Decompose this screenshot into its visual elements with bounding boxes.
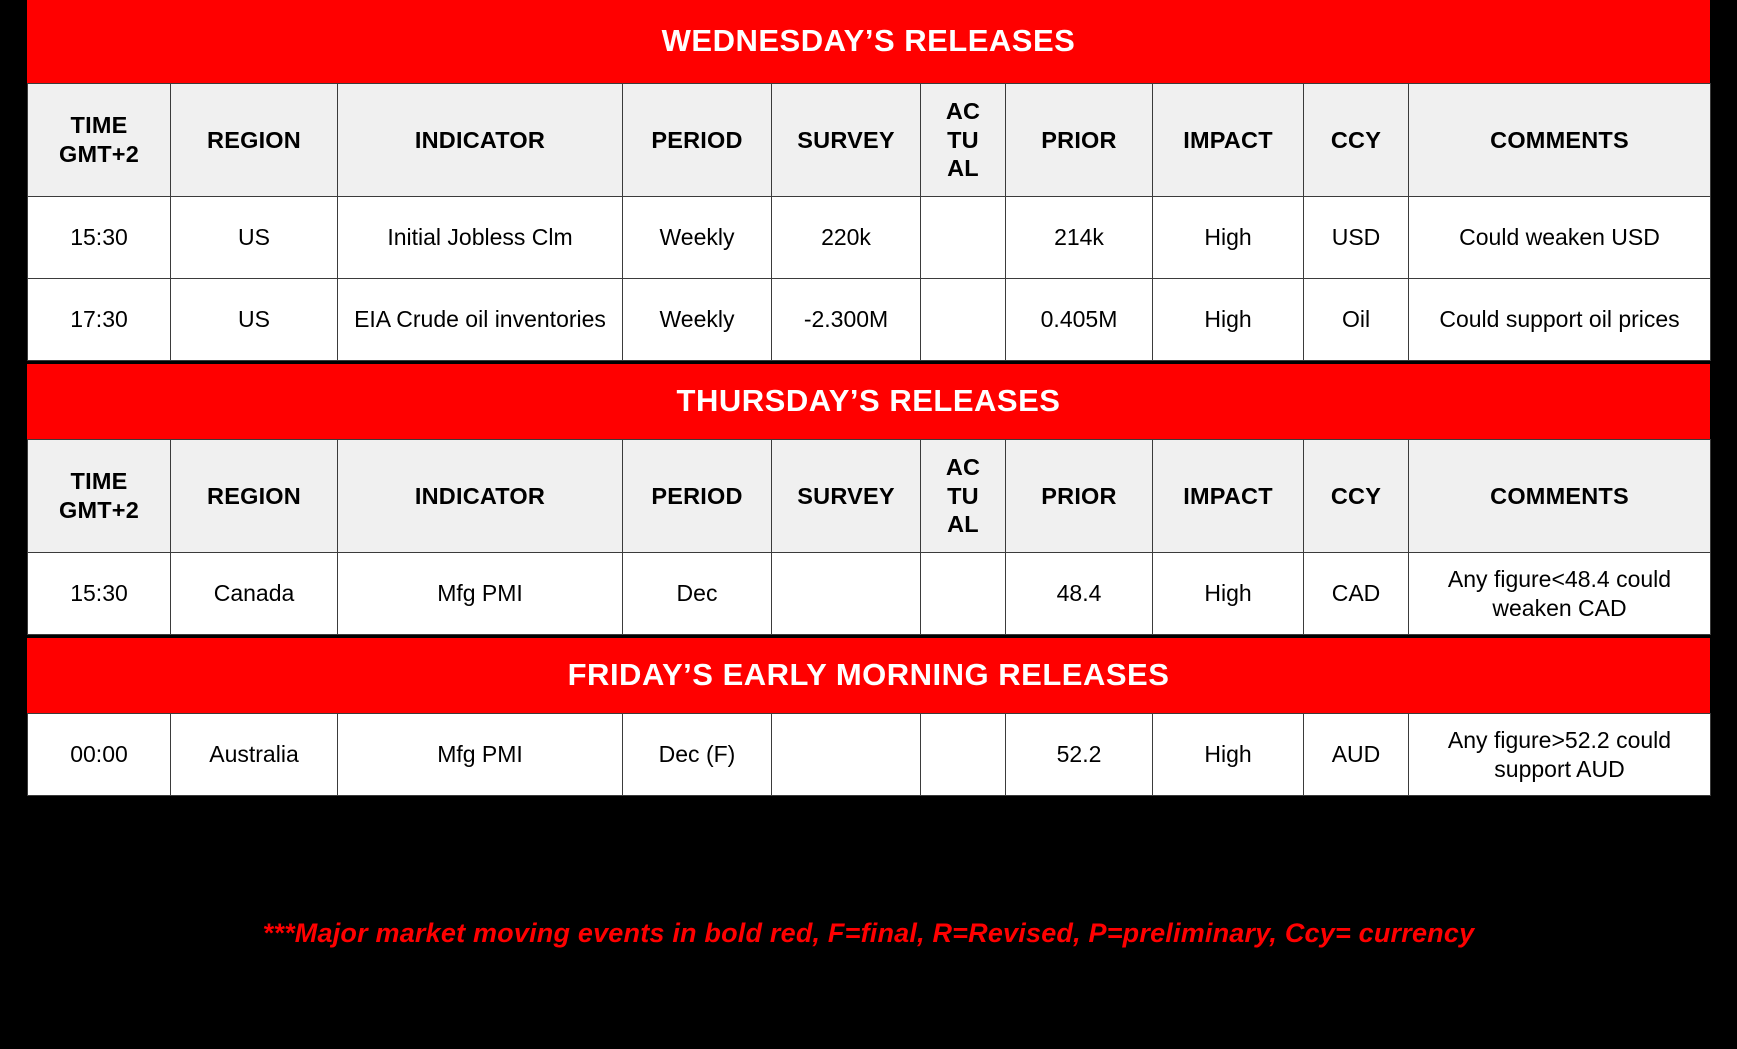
- releases-board: WEDNESDAY’S RELEASES TIME GMT+2 REGION I…: [27, 0, 1710, 796]
- column-header-ccy: CCY: [1304, 440, 1409, 553]
- cell-region: Canada: [171, 553, 338, 635]
- cell-period: Weekly: [623, 197, 772, 279]
- cell-survey: [772, 553, 921, 635]
- cell-indicator: Mfg PMI: [338, 553, 623, 635]
- cell-ccy: USD: [1304, 197, 1409, 279]
- cell-actual: [921, 197, 1006, 279]
- column-header-actual: AC TU AL: [921, 440, 1006, 553]
- column-header-actual: AC TU AL: [921, 84, 1006, 197]
- footnote-legend: ***Major market moving events in bold re…: [0, 918, 1737, 949]
- cell-impact: High: [1153, 279, 1304, 361]
- cell-prior: 0.405M: [1006, 279, 1153, 361]
- releases-table-thursday: TIME GMT+2 REGION INDICATOR PERIOD SURVE…: [27, 439, 1711, 635]
- cell-indicator: Initial Jobless Clm: [338, 197, 623, 279]
- section-banner-friday: FRIDAY’S EARLY MORNING RELEASES: [27, 638, 1710, 713]
- cell-period: Dec (F): [623, 714, 772, 796]
- column-header-period: PERIOD: [623, 440, 772, 553]
- cell-actual: [921, 553, 1006, 635]
- column-header-time-line1: TIME: [71, 468, 128, 494]
- column-header-impact: IMPACT: [1153, 440, 1304, 553]
- cell-period: Dec: [623, 553, 772, 635]
- cell-time: 15:30: [28, 553, 171, 635]
- cell-prior: 52.2: [1006, 714, 1153, 796]
- column-header-comments: COMMENTS: [1409, 440, 1711, 553]
- cell-comments: Could weaken USD: [1409, 197, 1711, 279]
- column-header-time-line2: GMT+2: [59, 497, 139, 523]
- column-header-time: TIME GMT+2: [28, 440, 171, 553]
- cell-region: US: [171, 197, 338, 279]
- cell-time: 00:00: [28, 714, 171, 796]
- cell-survey: 220k: [772, 197, 921, 279]
- releases-table-wednesday: TIME GMT+2 REGION INDICATOR PERIOD SURVE…: [27, 83, 1711, 361]
- cell-ccy: CAD: [1304, 553, 1409, 635]
- cell-region: US: [171, 279, 338, 361]
- cell-comments: Any figure<48.4 could weaken CAD: [1409, 553, 1711, 635]
- column-header-actual-line3: AL: [947, 155, 979, 181]
- column-header-indicator: INDICATOR: [338, 84, 623, 197]
- cell-impact: High: [1153, 553, 1304, 635]
- cell-ccy: AUD: [1304, 714, 1409, 796]
- cell-region: Australia: [171, 714, 338, 796]
- cell-comments: Any figure>52.2 could support AUD: [1409, 714, 1711, 796]
- column-header-comments: COMMENTS: [1409, 84, 1711, 197]
- cell-survey: [772, 714, 921, 796]
- column-header-actual-line1: AC: [946, 454, 980, 480]
- column-header-region: REGION: [171, 84, 338, 197]
- table-header-row: TIME GMT+2 REGION INDICATOR PERIOD SURVE…: [28, 84, 1711, 197]
- table-row: 00:00 Australia Mfg PMI Dec (F) 52.2 Hig…: [28, 714, 1711, 796]
- column-header-prior: PRIOR: [1006, 440, 1153, 553]
- cell-prior: 48.4: [1006, 553, 1153, 635]
- column-header-survey: SURVEY: [772, 440, 921, 553]
- column-header-impact: IMPACT: [1153, 84, 1304, 197]
- cell-indicator: Mfg PMI: [338, 714, 623, 796]
- cell-period: Weekly: [623, 279, 772, 361]
- column-header-indicator: INDICATOR: [338, 440, 623, 553]
- releases-table-friday: 00:00 Australia Mfg PMI Dec (F) 52.2 Hig…: [27, 713, 1711, 796]
- cell-impact: High: [1153, 714, 1304, 796]
- cell-prior: 214k: [1006, 197, 1153, 279]
- table-row: 17:30 US EIA Crude oil inventories Weekl…: [28, 279, 1711, 361]
- releases-calendar-page: WEDNESDAY’S RELEASES TIME GMT+2 REGION I…: [0, 0, 1737, 1049]
- column-header-actual-line2: TU: [947, 483, 979, 509]
- column-header-actual-line3: AL: [947, 511, 979, 537]
- column-header-prior: PRIOR: [1006, 84, 1153, 197]
- section-banner-wednesday: WEDNESDAY’S RELEASES: [27, 0, 1710, 83]
- cell-time: 15:30: [28, 197, 171, 279]
- cell-time: 17:30: [28, 279, 171, 361]
- column-header-actual-line1: AC: [946, 98, 980, 124]
- column-header-region: REGION: [171, 440, 338, 553]
- column-header-time-line1: TIME: [71, 112, 128, 138]
- column-header-time-line2: GMT+2: [59, 141, 139, 167]
- column-header-actual-line2: TU: [947, 127, 979, 153]
- table-row: 15:30 US Initial Jobless Clm Weekly 220k…: [28, 197, 1711, 279]
- column-header-ccy: CCY: [1304, 84, 1409, 197]
- cell-actual: [921, 714, 1006, 796]
- section-banner-thursday: THURSDAY’S RELEASES: [27, 364, 1710, 439]
- cell-survey: -2.300M: [772, 279, 921, 361]
- table-header-row: TIME GMT+2 REGION INDICATOR PERIOD SURVE…: [28, 440, 1711, 553]
- column-header-survey: SURVEY: [772, 84, 921, 197]
- column-header-time: TIME GMT+2: [28, 84, 171, 197]
- cell-actual: [921, 279, 1006, 361]
- cell-indicator: EIA Crude oil inventories: [338, 279, 623, 361]
- table-row: 15:30 Canada Mfg PMI Dec 48.4 High CAD A…: [28, 553, 1711, 635]
- cell-ccy: Oil: [1304, 279, 1409, 361]
- cell-impact: High: [1153, 197, 1304, 279]
- cell-comments: Could support oil prices: [1409, 279, 1711, 361]
- column-header-period: PERIOD: [623, 84, 772, 197]
